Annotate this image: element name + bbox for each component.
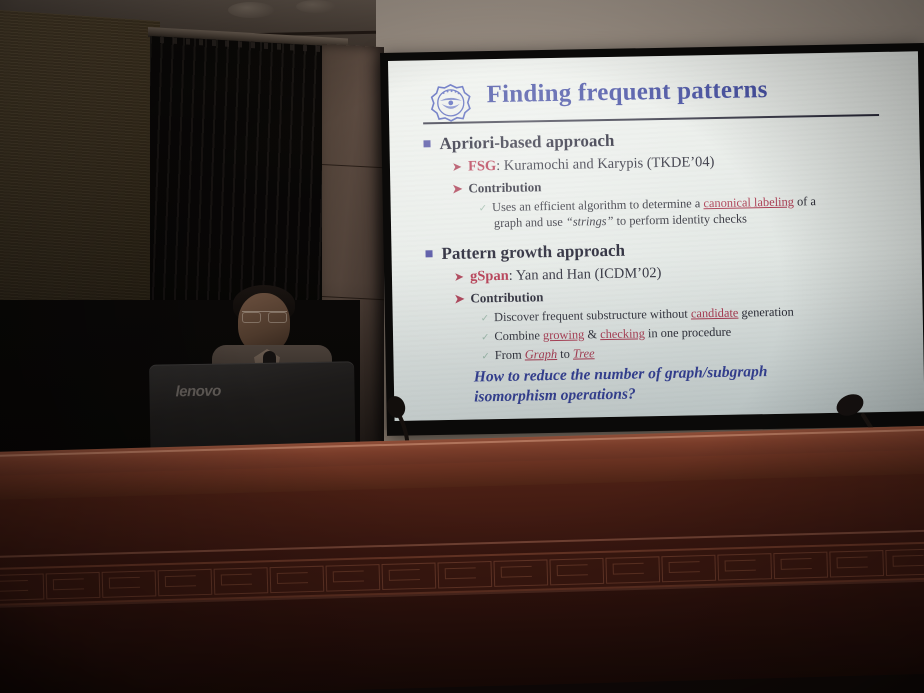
fret-motif (437, 561, 492, 588)
fret-motif (661, 555, 716, 582)
check-item-2: ✓Combine growing & checking in one proce… (481, 325, 731, 345)
check-bullet-icon: ✓ (479, 203, 488, 214)
lecture-hall-photo: Finding frequent patterns Apriori-based … (0, 0, 924, 693)
fret-motif (214, 567, 269, 594)
fret-motif (158, 569, 213, 596)
fret-motif (382, 563, 437, 590)
projector-screen: Finding frequent patterns Apriori-based … (388, 51, 924, 421)
university-emblem-icon (428, 81, 473, 126)
check-bullet-icon: ✓ (481, 351, 490, 362)
laptop-brand-label: lenovo (175, 383, 221, 401)
fret-motif (493, 559, 548, 586)
slide-title: Finding frequent patterns (486, 74, 886, 109)
fret-motif (605, 556, 660, 583)
slide-heading-apriori: Apriori-based approach (423, 131, 614, 154)
arrow-bullet-icon: ➤ (452, 160, 462, 174)
fret-motif (829, 550, 884, 577)
check-bullet-icon: ✓ (481, 332, 490, 343)
fret-motif (773, 552, 828, 579)
bullet-gspan: ➤gSpan: Yan and Han (ICDM’02) (454, 265, 662, 286)
title-divider (423, 114, 879, 124)
fret-motif (717, 553, 772, 580)
fret-motif (326, 564, 381, 591)
fret-motif (46, 572, 101, 599)
check-item-1: ✓Discover frequent substructure without … (481, 305, 794, 327)
square-bullet-icon (425, 250, 432, 257)
arrow-bullet-icon: ➤ (452, 182, 462, 196)
bullet-fsg: ➤FSG: Kuramochi and Karypis (TKDE’04) (452, 154, 715, 176)
ceiling-light-icon (296, 0, 336, 13)
fret-motif (270, 566, 325, 593)
fret-motif (549, 558, 604, 585)
fret-motif (0, 573, 44, 600)
ceiling-light-icon (228, 2, 274, 18)
slide-heading-pattern-growth: Pattern growth approach (425, 241, 625, 265)
glasses-icon (242, 311, 287, 321)
arrow-bullet-icon: ➤ (454, 292, 464, 306)
check-bullet-icon: ✓ (481, 313, 490, 324)
head (238, 293, 290, 353)
check-item-3: ✓From Graph to Tree (481, 346, 594, 364)
fret-motif (885, 548, 924, 575)
bullet-contribution-2: ➤Contribution (454, 289, 543, 307)
presentation-slide: Finding frequent patterns Apriori-based … (388, 51, 924, 421)
fret-motif (102, 570, 157, 597)
arrow-bullet-icon: ➤ (454, 270, 464, 284)
square-bullet-icon (423, 140, 430, 147)
detail-apriori: ✓Uses an efficient algorithm to determin… (479, 192, 910, 232)
bullet-contribution-1: ➤Contribution (452, 179, 541, 197)
